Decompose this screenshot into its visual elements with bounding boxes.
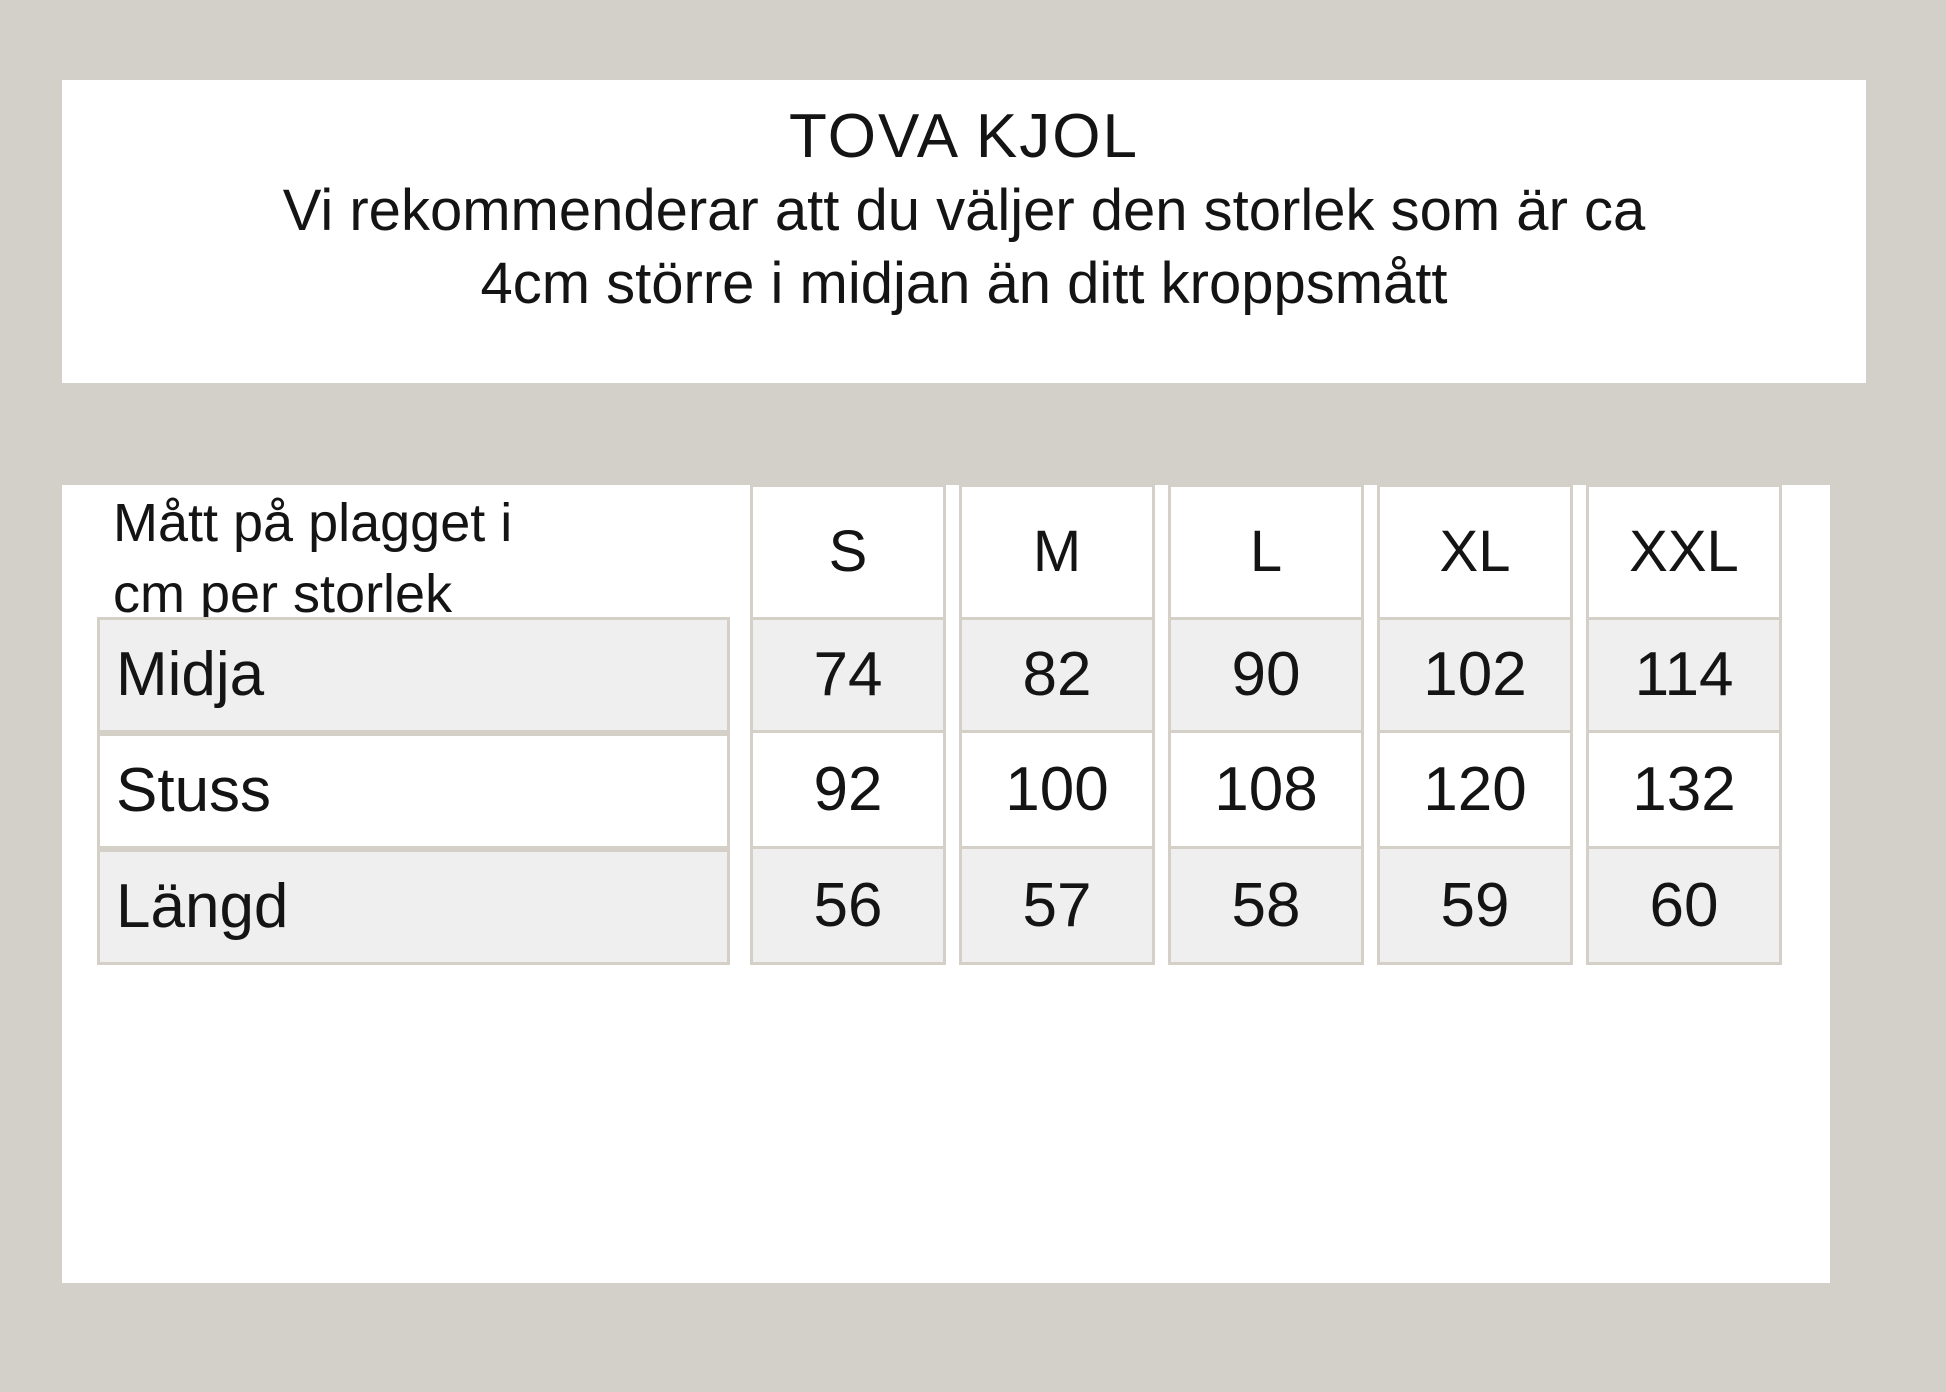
recommendation-text: Vi rekommenderar att du väljer den storl…	[283, 175, 1646, 320]
cell-langd-l: 58	[1168, 849, 1364, 965]
size-header-xxl: XXL	[1586, 484, 1782, 617]
measurement-column-header-line-1: Mått på plagget i	[113, 488, 512, 559]
size-header-l: L	[1168, 484, 1364, 617]
cell-midja-xxl: 114	[1586, 617, 1782, 733]
cell-stuss-m: 100	[959, 733, 1155, 849]
measurement-label-column: Mått på plagget i cm per storlek Midja S…	[97, 484, 730, 965]
cell-stuss-xl: 120	[1377, 733, 1573, 849]
cell-stuss-l: 108	[1168, 733, 1364, 849]
row-label-stuss: Stuss	[97, 733, 730, 849]
size-column-xxl: XXL 114 132 60	[1586, 484, 1782, 965]
measurement-column-header: Mått på plagget i cm per storlek	[97, 484, 730, 617]
size-table: Mått på plagget i cm per storlek Midja S…	[97, 484, 1807, 965]
size-column-l: L 90 108 58	[1168, 484, 1364, 965]
cell-midja-s: 74	[750, 617, 946, 733]
header-panel: TOVA KJOL Vi rekommenderar att du väljer…	[62, 80, 1866, 383]
page-title: TOVA KJOL	[789, 102, 1139, 171]
size-column-xl: XL 102 120 59	[1377, 484, 1573, 965]
cell-stuss-s: 92	[750, 733, 946, 849]
cell-stuss-xxl: 132	[1586, 733, 1782, 849]
recommendation-line-2: 4cm större i midjan än ditt kroppsmått	[283, 248, 1646, 321]
row-label-midja: Midja	[97, 617, 730, 733]
size-column-m: M 82 100 57	[959, 484, 1155, 965]
row-label-langd: Längd	[97, 849, 730, 965]
recommendation-line-1: Vi rekommenderar att du väljer den storl…	[283, 175, 1646, 248]
size-header-xl: XL	[1377, 484, 1573, 617]
size-header-m: M	[959, 484, 1155, 617]
size-header-s: S	[750, 484, 946, 617]
cell-langd-m: 57	[959, 849, 1155, 965]
size-table-panel: Mått på plagget i cm per storlek Midja S…	[62, 485, 1830, 1283]
cell-langd-s: 56	[750, 849, 946, 965]
cell-langd-xl: 59	[1377, 849, 1573, 965]
cell-midja-l: 90	[1168, 617, 1364, 733]
size-column-s: S 74 92 56	[750, 484, 946, 965]
cell-langd-xxl: 60	[1586, 849, 1782, 965]
cell-midja-xl: 102	[1377, 617, 1573, 733]
cell-midja-m: 82	[959, 617, 1155, 733]
